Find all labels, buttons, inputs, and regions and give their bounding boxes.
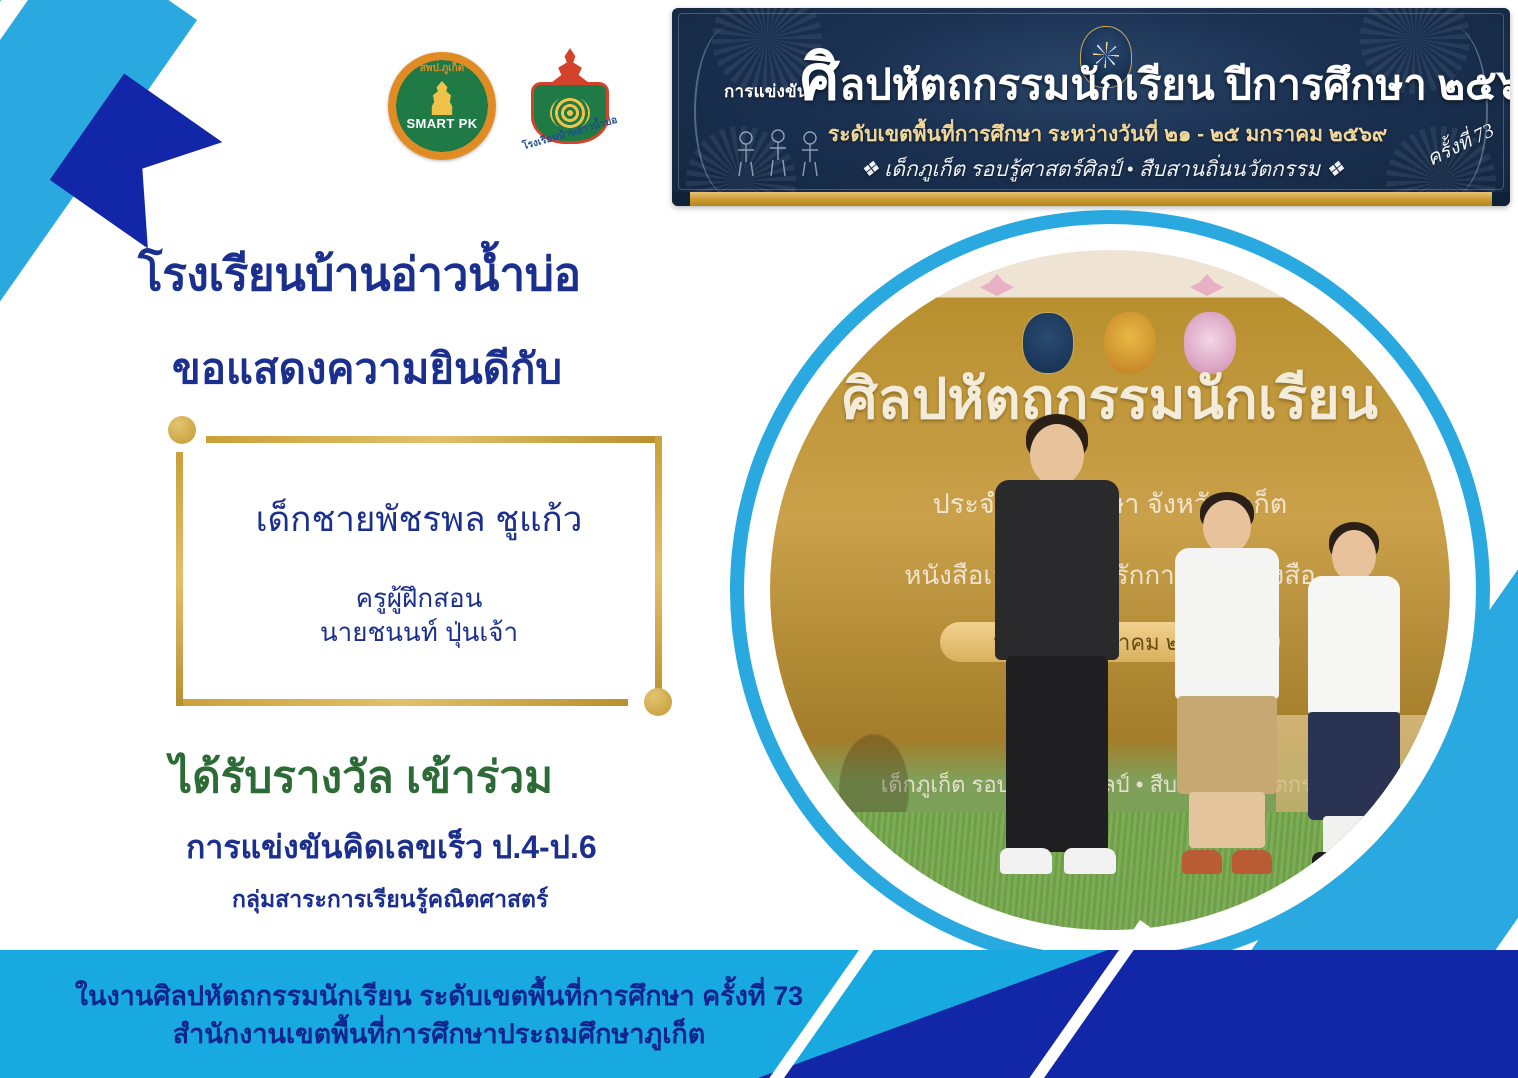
person-female-student [1298,522,1410,874]
congratulations-heading: ขอแสดงความยินดีกับ [172,336,562,402]
banner-gold-bar [672,192,1510,206]
banner-title-dropcap: ศิ [800,45,839,113]
subject-group: กลุ่มสาระการเรียนรู้คณิตศาสตร์ [232,882,548,918]
banner-prefix: การแข่งขัน [724,78,809,105]
footer-line-1: ในงานศิลปหัตถกรรมนักเรียน ระดับเขตพื้นที… [0,974,878,1017]
school-name-heading: โรงเรียนบ้านอ่าวน้ำบ่อ [138,238,581,311]
banner-title: ศิลปหัตถกรรมนักเรียน ปีการศึกษา ๒๕๖๘ [800,52,1510,118]
certificate-poster: การแข่งขัน ศิลปหัตถกรรมนักเรียน ปีการศึก… [0,0,1518,1078]
school-logo: โรงเรียนบ้านอ่าวน้ำบ่อ [524,48,616,168]
backdrop-tree-art [814,694,934,814]
smart-pk-logo: สพป.ภูเก็ต SMART PK [388,52,496,160]
banner-title-rest: ลปหัตถกรรมนักเรียน ปีการศึกษา ๒๕๖๘ [839,63,1510,109]
decorative-notch-top-left [50,73,223,248]
children-holding-hands-icon [730,128,826,180]
photo-circle-frame: ศิลปหัตถกรรมนักเรียน ประจำปีการศึกษา จัง… [756,236,1464,944]
crest-icon [427,81,457,115]
banner-subtitle: ระดับเขตพื้นที่การศึกษา ระหว่างวันที่ ๒๑… [828,118,1387,151]
lotus-icon [980,274,1014,296]
smart-pk-main-text: SMART PK [406,116,477,131]
teacher-name: นายชนนท์ ปุ่นเจ้า [176,612,662,653]
award-photo: ศิลปหัตถกรรมนักเรียน ประจำปีการศึกษา จัง… [770,250,1450,930]
event-name: การแข่งขันคิดเลขเร็ว ป.4-ป.6 [186,822,597,873]
footer-line-2: สำนักงานเขตพื้นที่การศึกษาประถมศึกษาภูเก… [0,1012,878,1055]
award-result: ได้รับรางวัล เข้าร่วม [170,742,553,812]
person-male-student [1166,492,1288,874]
banner-tagline: ❖ เด็กภูเก็ต รอบรู้ศาสตร์ศิลป์ • สืบสานถ… [860,153,1344,186]
event-banner: การแข่งขัน ศิลปหัตถกรรมนักเรียน ปีการศึก… [672,8,1510,206]
frame-dot-bottom-right [644,688,672,716]
student-name: เด็กชายพัชรพล ชูแก้ว [176,492,662,547]
lotus-icon [1190,274,1224,296]
footer-band: ในงานศิลปหัตถกรรมนักเรียน ระดับเขตพื้นที… [0,950,1518,1078]
person-teacher [982,414,1132,874]
gold-decorative-frame [176,430,662,712]
smart-pk-top-text: สพป.ภูเก็ต [388,61,496,76]
frame-dot-top-left [168,416,196,444]
